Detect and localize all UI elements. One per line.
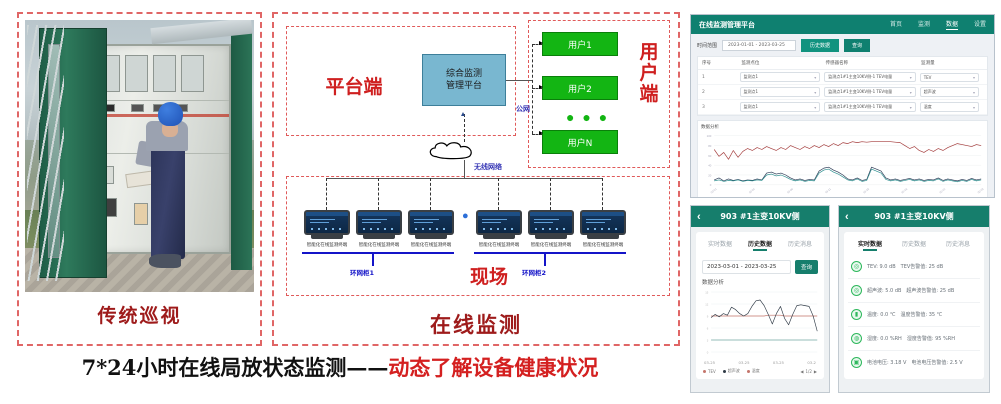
svg-text:03-08: 03-08 <box>786 187 794 195</box>
user-ellipsis-dots: ● ● ● <box>566 109 609 125</box>
connector-public-net-trunk <box>532 44 533 134</box>
integrated-monitoring-platform-box: 综合监测 管理平台 <box>422 54 506 106</box>
mobile-realtime-header: ‹ 903 #1主变10KV侧 <box>839 206 989 227</box>
arrow-cloud-up <box>461 112 465 116</box>
svg-text:03-22: 03-22 <box>939 187 947 195</box>
mobile-realtime-card: 实时数据 历史数据 历史消息 ◎ TEV: 9.0 dB TEV告警值: 25 … <box>844 232 984 379</box>
metric-row-battery[interactable]: ▣ 电池电压: 3.18 V 电池电压告警值: 2.5 V <box>848 351 980 374</box>
chevron-left-icon[interactable]: ‹ <box>845 211 857 223</box>
metric-ultrasonic-value: 超声波: 5.0 dB <box>867 287 901 294</box>
dashboard-date-range-input[interactable]: 2023-01-01 - 2023-03-25 <box>722 40 796 51</box>
mobile-search-row: 2023-03-01 - 2023-03-25 查询 <box>702 260 818 274</box>
xtick-3: 03-25 <box>773 360 784 365</box>
dashboard-chart-card: 数据分析 10080604020003-0103-0403-0803-1103-… <box>697 120 988 198</box>
system-architecture-diagram: 平台端 用 户 端 现场 在线监测 综合监测 管理平台 用户1 用户2 用户N … <box>272 12 680 346</box>
photo-worker-shoe <box>149 254 181 268</box>
legend-temperature[interactable]: 温度 <box>747 368 760 374</box>
mobile-history-card: 实时数据 历史数据 历史消息 2023-03-01 - 2023-03-25 查… <box>696 232 824 379</box>
drop-device-5 <box>550 178 551 210</box>
svg-text:03-01: 03-01 <box>710 187 718 195</box>
ring-main-unit-label-1: 环网柜1 <box>350 267 374 277</box>
nav-item-data[interactable]: 数据 <box>946 19 958 30</box>
user-zone-label: 用 户 端 <box>634 42 664 105</box>
platform-zone-label: 平台端 <box>304 72 404 99</box>
photo-metal-railing <box>27 25 64 281</box>
photo-blue-helmet <box>158 102 183 126</box>
mobile-query-button[interactable]: 查询 <box>795 260 818 274</box>
chevron-down-icon: ▾ <box>814 105 816 110</box>
legend-tev[interactable]: TEV <box>703 369 716 374</box>
svg-text:03-04: 03-04 <box>748 187 756 195</box>
connector-cloud-to-platform <box>464 114 465 142</box>
svg-text:6: 6 <box>707 326 709 330</box>
user-zone-label-char-2: 户 <box>634 63 664 84</box>
sensor-select[interactable]: 监测点1#1主变10KV侧-1 TEV电量▾ <box>824 72 915 82</box>
dashboard-table: 序号 监测点位 传感器名称 监测量 1 监测点1▾ 监测点1#1主变10KV侧-… <box>697 56 988 116</box>
drop-device-4 <box>498 178 499 210</box>
tab-history-data[interactable]: 历史数据 <box>902 239 926 251</box>
ring-main-unit-bus-1 <box>302 252 454 254</box>
prev-page-icon[interactable]: ◀ <box>800 369 803 374</box>
monitoring-terminal-6: 智能化在线监测终端 <box>580 210 626 240</box>
tev-icon: ◎ <box>851 261 862 272</box>
chevron-down-icon: ▾ <box>910 90 912 95</box>
mobile-date-range-input[interactable]: 2023-03-01 - 2023-03-25 <box>702 260 791 274</box>
wireless-network-label: 无线网络 <box>474 162 502 172</box>
dashboard-chart-title: 数据分析 <box>701 124 984 130</box>
svg-text:0: 0 <box>707 350 709 354</box>
ring-main-unit-label-2: 环网柜2 <box>522 267 546 277</box>
dashboard-title: 在线监测管理平台 <box>699 20 755 30</box>
mobile-realtime-tabs[interactable]: 实时数据 历史数据 历史消息 <box>848 237 980 255</box>
nav-item-settings[interactable]: 设置 <box>974 19 986 30</box>
chevron-down-icon: ▾ <box>910 75 912 80</box>
svg-text:20: 20 <box>708 173 712 177</box>
chevron-down-icon: ▾ <box>973 105 975 110</box>
query-button[interactable]: 查询 <box>844 39 870 52</box>
svg-text:15: 15 <box>705 290 708 294</box>
th-site: 监测点位 <box>741 60 825 66</box>
mobile-history-title: 903 #1主变10KV侧 <box>709 211 811 222</box>
xtick-2: 03-25 <box>738 360 749 365</box>
chevron-down-icon: ▾ <box>973 90 975 95</box>
tab-realtime[interactable]: 实时数据 <box>708 239 732 251</box>
site-select[interactable]: 监测点1▾ <box>740 102 821 112</box>
terminal-label-3: 智能化在线监测终端 <box>399 242 463 248</box>
chevron-left-icon[interactable]: ‹ <box>697 211 709 223</box>
mobile-section-label: 数据分析 <box>702 278 818 286</box>
metric-row-tev[interactable]: ◎ TEV: 9.0 dB TEV告警值: 25 dB <box>848 255 980 279</box>
arrow-user2 <box>539 85 543 89</box>
tab-history-message[interactable]: 历史消息 <box>946 239 970 251</box>
row-index: 2 <box>702 90 740 95</box>
dashboard-filter-bar: 时间范围 2023-01-01 - 2023-03-25 历史数据 查询 <box>697 39 988 52</box>
svg-text:03-11: 03-11 <box>824 187 832 194</box>
metric-battery-value: 电池电压: 3.18 V <box>867 359 906 366</box>
mobile-realtime-screen: ‹ 903 #1主变10KV侧 实时数据 历史数据 历史消息 ◎ TEV: 9.… <box>838 205 990 393</box>
history-data-button[interactable]: 历史数据 <box>801 39 839 52</box>
arrow-usern <box>539 131 543 135</box>
traditional-inspection-panel: 传统巡视 <box>17 12 262 346</box>
metric-temperature-alarm: 温度告警值: 35 ℃ <box>900 311 942 318</box>
th-sensor: 传感器名称 <box>826 60 922 66</box>
filter-label: 时间范围 <box>697 42 717 49</box>
connector-platform-to-bus <box>506 80 532 81</box>
online-monitoring-label: 在线监测 <box>274 309 678 339</box>
metric-row-ultrasonic[interactable]: ◎ 超声波: 5.0 dB 超声波告警值: 25 dB <box>848 279 980 303</box>
next-page-icon[interactable]: ▶ <box>814 369 817 374</box>
table-row[interactable]: 2 监测点1▾ 监测点1#1主变10KV侧-1 TEV电量▾ 超声波▾ <box>698 85 987 100</box>
monitoring-terminal-2: 智能化在线监测终端 <box>356 210 402 240</box>
nav-item-home[interactable]: 首页 <box>890 19 902 30</box>
table-header-row: 序号 监测点位 传感器名称 监测量 <box>698 57 987 70</box>
drop-device-2 <box>378 178 379 210</box>
connector-cloud-to-site <box>464 160 465 178</box>
arrow-user1 <box>539 41 543 45</box>
dashboard-header: 在线监测管理平台 首页 监测 数据 设置 <box>691 15 994 34</box>
chevron-down-icon: ▾ <box>973 75 975 80</box>
chevron-down-icon: ▾ <box>814 90 816 95</box>
drop-device-1 <box>326 178 327 210</box>
site-zone-label: 现场 <box>444 262 534 289</box>
svg-text:03-15: 03-15 <box>862 187 870 195</box>
table-row[interactable]: 1 监测点1▾ 监测点1#1主变10KV侧-1 TEV电量▾ TEV▾ <box>698 70 987 85</box>
caption-red-part: 动态了解设备健康状况 <box>388 355 598 380</box>
dashboard-body: 时间范围 2023-01-01 - 2023-03-25 历史数据 查询 序号 … <box>691 34 994 198</box>
svg-text:60: 60 <box>708 154 712 158</box>
user-zone-label-char-1: 用 <box>634 42 664 63</box>
dashboard-trend-chart: 10080604020003-0103-0403-0803-1103-1503-… <box>701 132 984 198</box>
mobile-history-screen: ‹ 903 #1主变10KV侧 实时数据 历史数据 历史消息 2023-03-0… <box>690 205 830 393</box>
user-box-2: 用户2 <box>542 76 618 100</box>
platform-box-line1: 综合监测 <box>446 68 482 80</box>
xtick-4: 03-2 <box>807 360 816 365</box>
svg-text:3: 3 <box>707 338 709 342</box>
user-box-n: 用户N <box>542 130 618 154</box>
tab-history-message[interactable]: 历史消息 <box>788 239 812 251</box>
th-metric: 监测量 <box>921 60 983 66</box>
metric-select[interactable]: 超声波▾ <box>920 87 979 97</box>
nav-item-monitor[interactable]: 监测 <box>918 19 930 30</box>
tab-realtime[interactable]: 实时数据 <box>858 239 882 251</box>
svg-text:40: 40 <box>708 164 712 168</box>
metric-humidity-alarm: 湿度告警值: 95 %RH <box>907 335 955 342</box>
bus-drop-1 <box>372 252 374 266</box>
svg-text:80: 80 <box>708 144 712 148</box>
user-box-1: 用户1 <box>542 32 618 56</box>
pager-label: 1/2 <box>805 369 811 374</box>
photo-cabinet-frame-right <box>231 31 252 270</box>
tab-history-data[interactable]: 历史数据 <box>748 239 772 251</box>
monitoring-terminal-4: 智能化在线监测终端 <box>476 210 522 240</box>
sensor-select[interactable]: 监测点1#1主变10KV侧-1 TEV电量▾ <box>824 102 915 112</box>
xtick-1: 03-25 <box>704 360 715 365</box>
metric-tev-alarm: TEV告警值: 25 dB <box>901 263 943 270</box>
metric-temperature-value: 温度: 0.0 ℃ <box>867 311 895 318</box>
row-index: 1 <box>702 75 740 80</box>
mobile-chart-pager[interactable]: ◀ 1/2 ▶ <box>800 369 817 374</box>
mobile-chart-legend: TEV 超声波 温度 ◀ 1/2 ▶ <box>700 365 820 374</box>
drop-device-3 <box>430 178 431 210</box>
svg-text:03-25: 03-25 <box>977 187 984 195</box>
site-select[interactable]: 监测点1▾ <box>740 87 821 97</box>
metric-row-temperature[interactable]: ▮ 温度: 0.0 ℃ 温度告警值: 35 ℃ <box>848 303 980 327</box>
svg-text:100: 100 <box>707 134 712 138</box>
caption-black-part: 7*24小时在线局放状态监测—— <box>82 355 389 380</box>
slide-caption: 7*24小时在线局放状态监测——动态了解设备健康状况 <box>0 352 680 382</box>
public-network-label: 公网 <box>516 104 530 114</box>
ultrasonic-icon: ◎ <box>851 285 862 296</box>
row-index: 3 <box>702 105 740 110</box>
web-dashboard-screenshot: 在线监测管理平台 首页 监测 数据 设置 时间范围 2023-01-01 - 2… <box>690 14 995 198</box>
terminal-label-6: 智能化在线监测终端 <box>571 242 635 248</box>
site-trunk-horizontal <box>326 178 602 179</box>
chevron-down-icon: ▾ <box>910 105 912 110</box>
monitoring-terminal-1: 智能化在线监测终端 <box>304 210 350 240</box>
mobile-history-header: ‹ 903 #1主变10KV侧 <box>691 206 829 227</box>
monitoring-terminal-5: 智能化在线监测终端 <box>528 210 574 240</box>
legend-ultrasonic[interactable]: 超声波 <box>723 368 740 374</box>
slide-root: 传统巡视 平台端 用 户 端 现场 在线监测 综合监测 管理平台 用户1 用户2… <box>0 0 1001 404</box>
metric-row-humidity[interactable]: ◍ 湿度: 0.0 %RH 湿度告警值: 95 %RH <box>848 327 980 351</box>
drop-device-6 <box>602 178 603 210</box>
temperature-icon: ▮ <box>851 309 862 320</box>
platform-box-line2: 管理平台 <box>446 80 482 92</box>
table-row[interactable]: 3 监测点1▾ 监测点1#1主变10KV侧-1 TEV电量▾ 温度▾ <box>698 100 987 115</box>
svg-text:0: 0 <box>710 183 712 187</box>
metric-select[interactable]: TEV▾ <box>920 73 979 82</box>
ring-main-unit-bus-2 <box>474 252 626 254</box>
dashboard-nav[interactable]: 首页 监测 数据 设置 <box>890 19 986 30</box>
humidity-icon: ◍ <box>851 333 862 344</box>
metric-humidity-value: 湿度: 0.0 %RH <box>867 335 902 342</box>
svg-text:03-18: 03-18 <box>900 187 908 195</box>
th-index: 序号 <box>702 60 741 66</box>
bus-drop-2 <box>544 252 546 266</box>
sensor-select[interactable]: 监测点1#1主变10KV侧-1 TEV电量▾ <box>824 87 915 97</box>
mobile-realtime-title: 903 #1主变10KV侧 <box>857 211 971 222</box>
traditional-inspection-label: 传统巡视 <box>25 301 254 328</box>
mobile-history-chart: 15129630 <box>700 288 820 360</box>
user-zone-label-char-3: 端 <box>634 84 664 105</box>
battery-icon: ▣ <box>851 357 862 368</box>
metric-select[interactable]: 温度▾ <box>920 102 979 112</box>
mobile-history-tabs[interactable]: 实时数据 历史数据 历史消息 <box>700 237 820 255</box>
chevron-down-icon: ▾ <box>814 75 816 80</box>
inspection-photo <box>25 20 254 292</box>
metric-ultrasonic-alarm: 超声波告警值: 25 dB <box>906 287 954 294</box>
svg-text:12: 12 <box>705 302 708 306</box>
wireless-cloud-icon <box>426 140 482 162</box>
svg-text:9: 9 <box>707 314 709 318</box>
metric-battery-alarm: 电池电压告警值: 2.5 V <box>911 359 962 366</box>
site-select[interactable]: 监测点1▾ <box>740 72 821 82</box>
metric-tev-value: TEV: 9.0 dB <box>867 264 896 270</box>
monitoring-terminal-3: 智能化在线监测终端 <box>408 210 454 240</box>
